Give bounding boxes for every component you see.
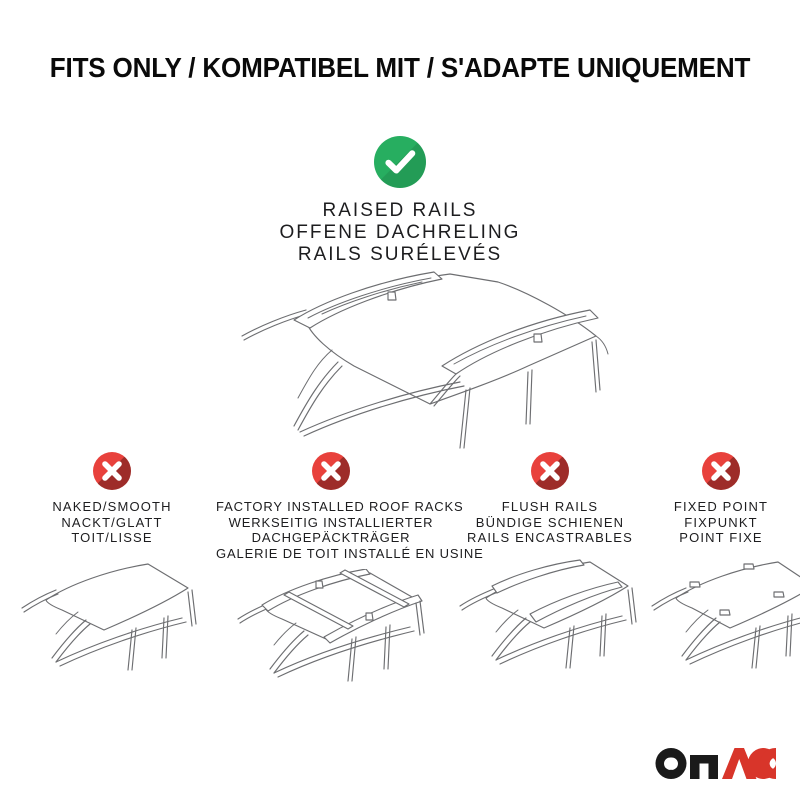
item-label-en: NAKED/SMOOTH [12,499,212,515]
logo-letter-o [655,748,686,779]
item-label-en: FLUSH RAILS [452,499,648,515]
item-label-fr: GALERIE DE TOIT INSTALLÉ EN USINE [216,546,446,562]
item-label-de-1: WERKSEITIG INSTALLIERTER [216,515,446,531]
x-circle-icon [702,452,740,490]
item-label-de-2: DACHGEPÄCKTRÄGER [216,530,446,546]
item-label-de: NACKT/GLATT [12,515,212,531]
smooth-roof-illustration [12,554,212,694]
item-label-de: FIXPUNKT [648,515,794,531]
compatible-label-fr: RAILS SURÉLEVÉS [0,244,800,266]
logo-letter-m [690,755,718,779]
incompatible-item-fixed-point: FIXED POINT FIXPUNKT POINT FIXE [648,452,794,694]
page-title: FITS ONLY / KOMPATIBEL MIT / S'ADAPTE UN… [28,52,772,84]
raised-rails-illustration [198,270,628,460]
compatible-section: RAISED RAILS OFFENE DACHRELING RAILS SUR… [0,136,800,266]
x-circle-icon [312,452,350,490]
omac-logo [654,746,778,782]
fitment-infographic: FITS ONLY / KOMPATIBEL MIT / S'ADAPTE UN… [0,0,800,800]
x-circle-icon [93,452,131,490]
item-labels: FIXED POINT FIXPUNKT POINT FIXE [648,499,794,546]
fixed-point-roof-illustration [648,554,794,694]
item-label-en: FACTORY INSTALLED ROOF RACKS [216,499,446,515]
compatible-label-en: RAISED RAILS [0,200,800,222]
incompatible-section: NAKED/SMOOTH NACKT/GLATT TOIT/LISSE [0,452,800,752]
item-labels: NAKED/SMOOTH NACKT/GLATT TOIT/LISSE [12,499,212,546]
item-labels: FACTORY INSTALLED ROOF RACKS WERKSEITIG … [216,499,446,561]
incompatible-item-factory-roof-racks: FACTORY INSTALLED ROOF RACKS WERKSEITIG … [216,452,446,709]
item-label-fr: RAILS ENCASTRABLES [452,530,648,546]
item-label-de: BÜNDIGE SCHIENEN [452,515,648,531]
flush-rails-illustration [452,554,648,694]
item-label-en: FIXED POINT [648,499,794,515]
factory-roof-rack-illustration [216,569,446,709]
incompatible-item-flush-rails: FLUSH RAILS BÜNDIGE SCHIENEN RAILS ENCAS… [452,452,648,694]
item-labels: FLUSH RAILS BÜNDIGE SCHIENEN RAILS ENCAS… [452,499,648,546]
incompatible-item-naked-smooth: NAKED/SMOOTH NACKT/GLATT TOIT/LISSE [12,452,212,694]
x-circle-icon [531,452,569,490]
compatible-label-de: OFFENE DACHRELING [0,222,800,244]
item-label-fr: POINT FIXE [648,530,794,546]
check-circle-icon [374,136,426,188]
item-label-fr: TOIT/LISSE [12,530,212,546]
compatible-labels: RAISED RAILS OFFENE DACHRELING RAILS SUR… [0,200,800,266]
